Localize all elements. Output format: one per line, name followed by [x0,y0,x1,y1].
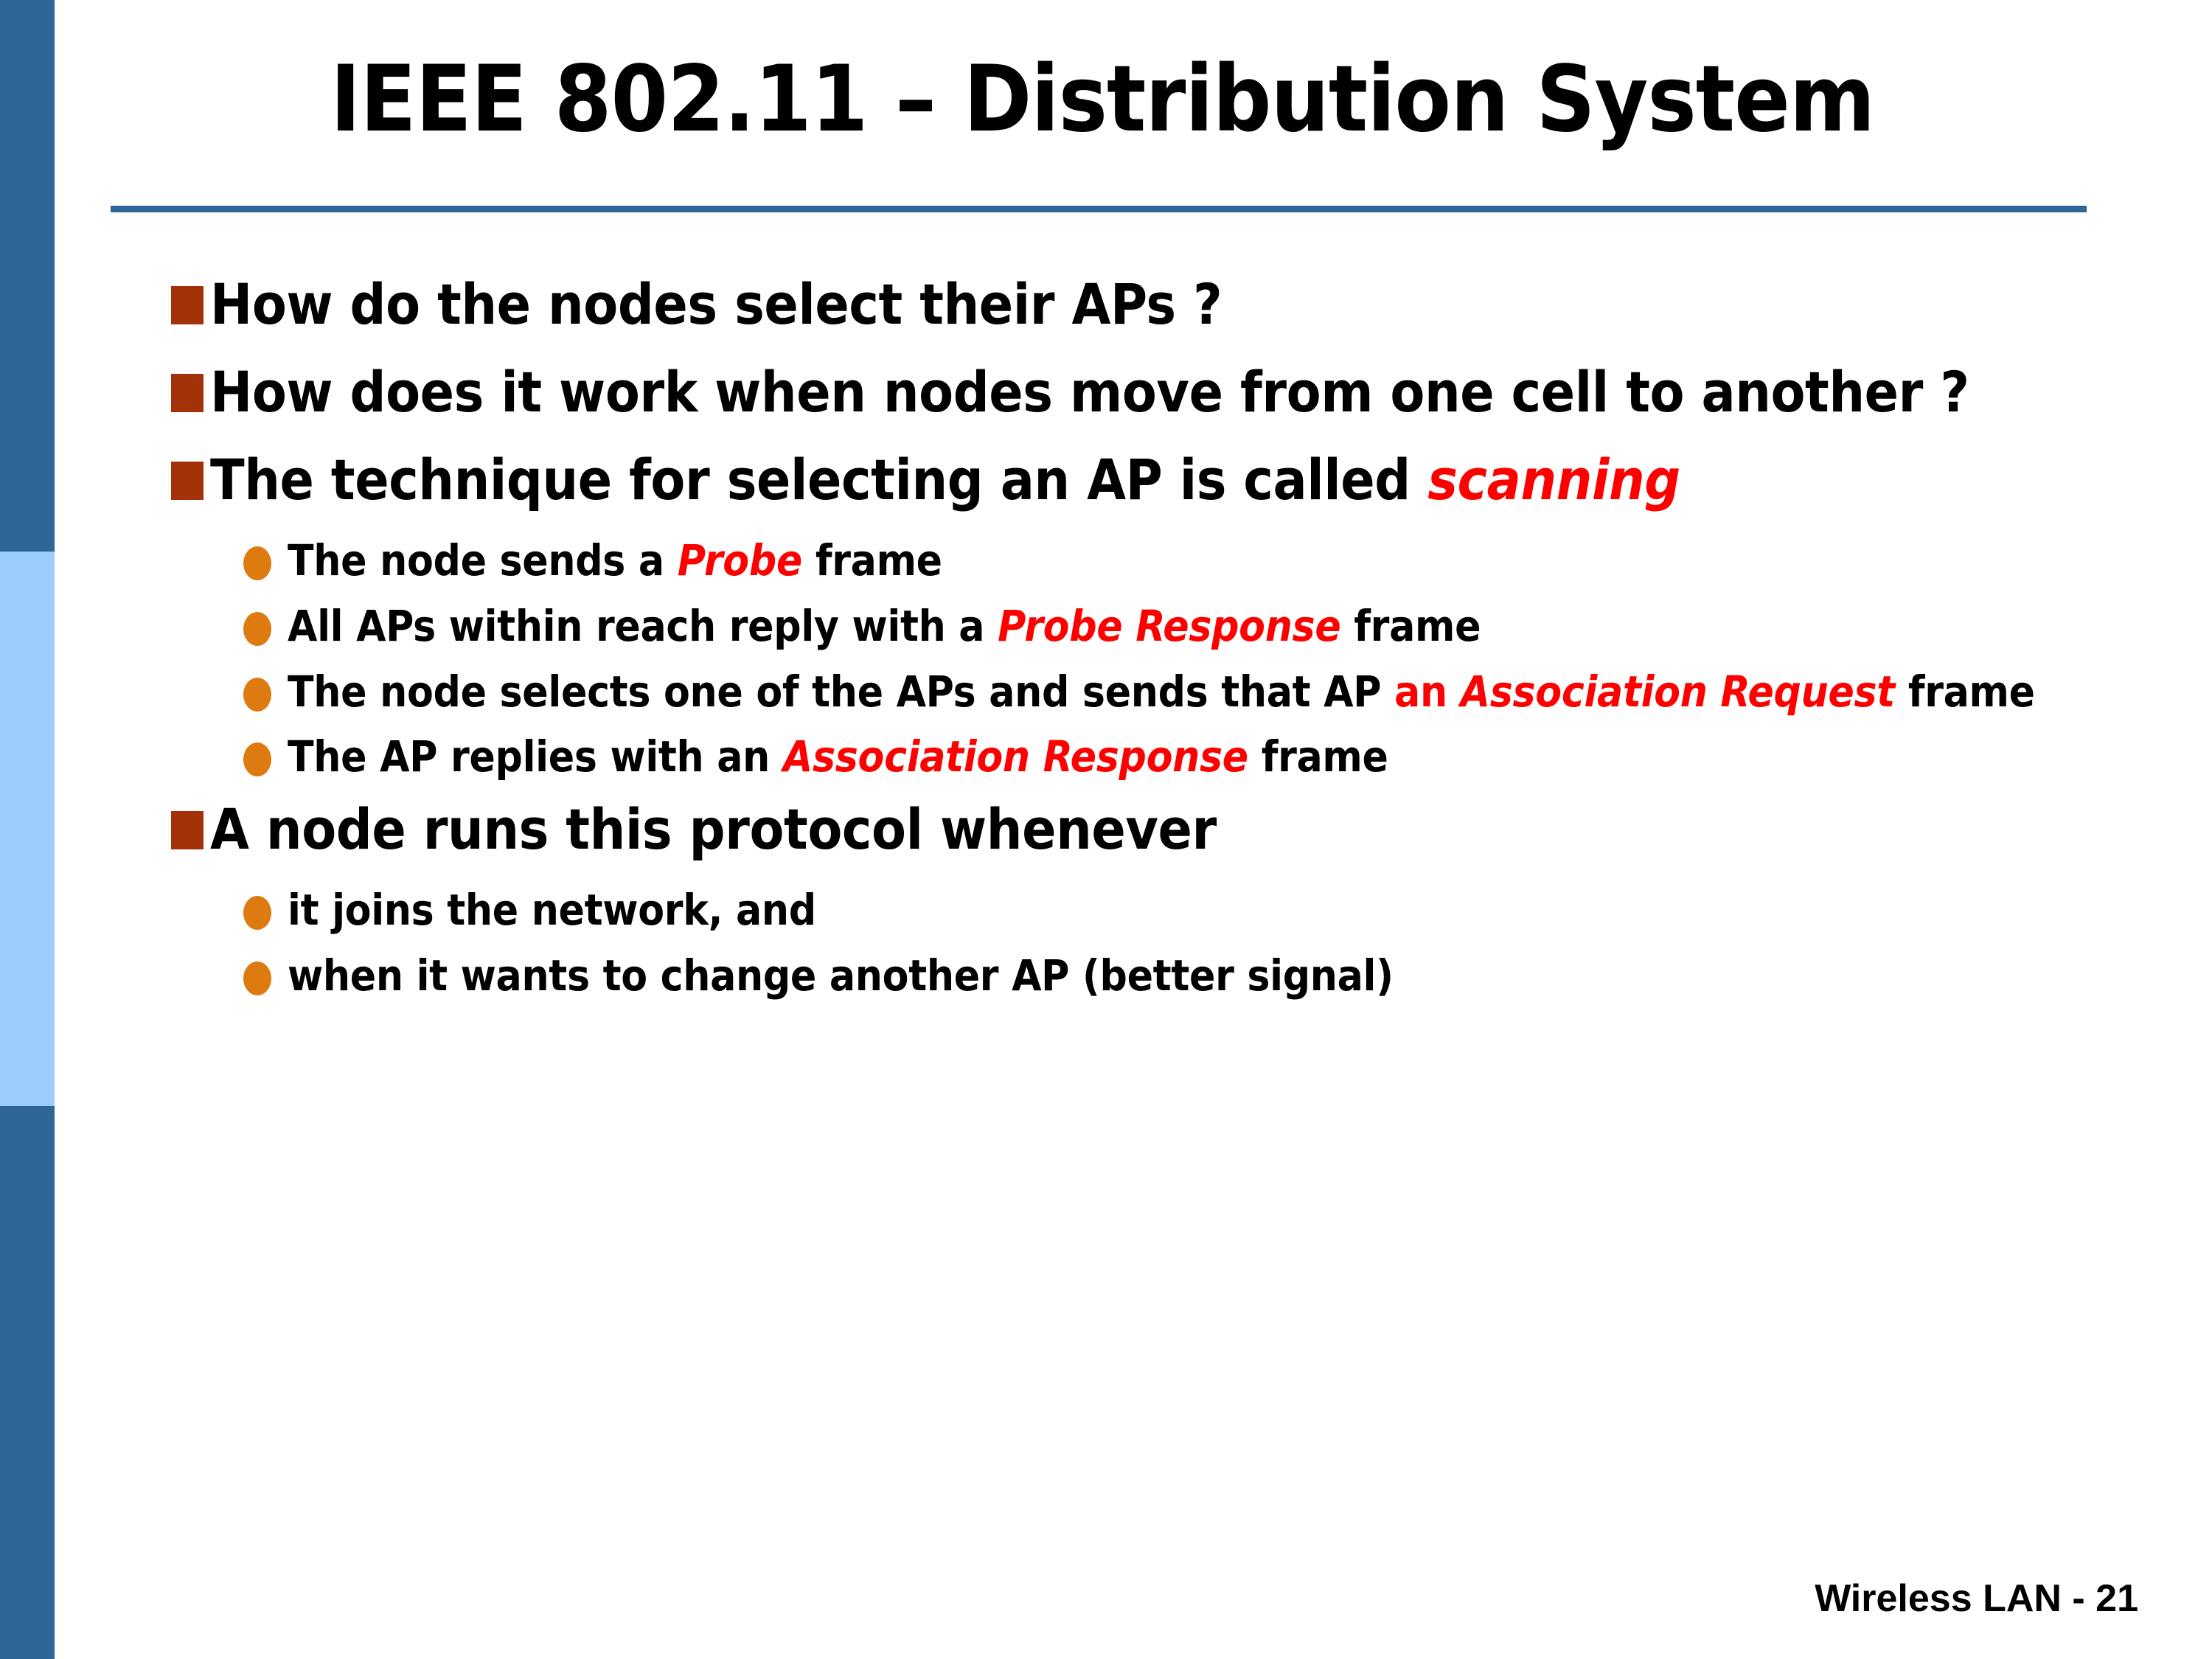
slide-body: How do the nodes select their APs ?How d… [111,273,2101,1017]
bullet-level-2: when it wants to change another AP (bett… [111,951,2101,1001]
text-run: frame [802,535,942,585]
bullet-text: All APs within reach reply with a Probe … [288,601,1481,651]
square-bullet-icon [171,811,204,849]
sidebar-segment-middle [0,552,55,1106]
text-run: it joins the network, and [288,885,816,935]
emphasis-run: Probe Response [998,601,1340,651]
text-run: All APs within reach reply with a [288,601,998,651]
text-run: frame [1340,601,1481,651]
text-run: The node sends a [288,535,678,585]
slide-title: IEEE 802.11 – Distribution System [111,29,2094,170]
sub-bullet-group: The node sends a Probe frameAll APs with… [111,536,2101,782]
bullet-text: How does it work when nodes move from on… [210,359,1969,425]
sidebar-segment-bottom [0,1106,55,1659]
round-bullet-icon [243,546,271,580]
bullet-level-2: The node selects one of the APs and send… [111,667,2101,717]
round-bullet-icon [243,961,271,995]
bullet-text: The node selects one of the APs and send… [288,667,2035,717]
round-bullet-icon [243,742,271,776]
text-run: The node selects one of the APs and send… [288,667,1394,717]
bullet-level-1: How do the nodes select their APs ? [111,273,2101,335]
emphasis-run: Association Request [1461,667,1895,717]
text-run: How do the nodes select their APs ? [210,271,1222,337]
square-bullet-icon [171,374,204,412]
round-bullet-icon [243,896,271,930]
bullet-text: The technique for selecting an AP is cal… [210,447,1680,512]
text-run: The technique for selecting an AP is cal… [210,447,1427,512]
sub-bullet-group: it joins the network, andwhen it wants t… [111,886,2101,1000]
bullet-text: How do the nodes select their APs ? [210,271,1222,337]
square-bullet-icon [171,462,204,500]
emphasis-run: Probe [678,535,802,585]
bullet-text: A node runs this protocol whenever [210,796,1217,862]
title-divider-rule [111,206,2087,212]
bullet-text: The node sends a Probe frame [288,535,942,585]
bullet-level-2: All APs within reach reply with a Probe … [111,602,2101,651]
text-run: A node runs this protocol whenever [210,796,1217,862]
bullet-text: when it wants to change another AP (bett… [288,950,1394,1001]
round-bullet-icon [243,612,271,646]
text-run: frame [1895,667,2035,717]
text-run: when it wants to change another AP (bett… [288,950,1394,1001]
bullet-text: it joins the network, and [288,885,816,935]
decorative-sidebar [0,0,55,1659]
bullet-level-2: it joins the network, and [111,886,2101,935]
bullet-text: The AP replies with an Association Respo… [288,731,1388,782]
sidebar-segment-top [0,0,55,552]
bullet-level-2: The node sends a Probe frame [111,536,2101,585]
emphasis-run: Association Response [783,731,1248,782]
bullet-level-1: How does it work when nodes move from on… [111,361,2101,423]
emphasis-run: an [1394,667,1461,717]
bullet-level-1: The technique for selecting an AP is cal… [111,448,2101,511]
text-run: The AP replies with an [288,731,783,782]
bullet-level-2: The AP replies with an Association Respo… [111,732,2101,782]
text-run: How does it work when nodes move from on… [210,359,1969,425]
bullet-level-1: A node runs this protocol whenever [111,798,2101,860]
slide-footer: Wireless LAN - 21 [1815,1576,2138,1621]
emphasis-run: scanning [1427,447,1680,512]
round-bullet-icon [243,678,271,712]
square-bullet-icon [171,286,204,324]
text-run: frame [1248,731,1388,782]
